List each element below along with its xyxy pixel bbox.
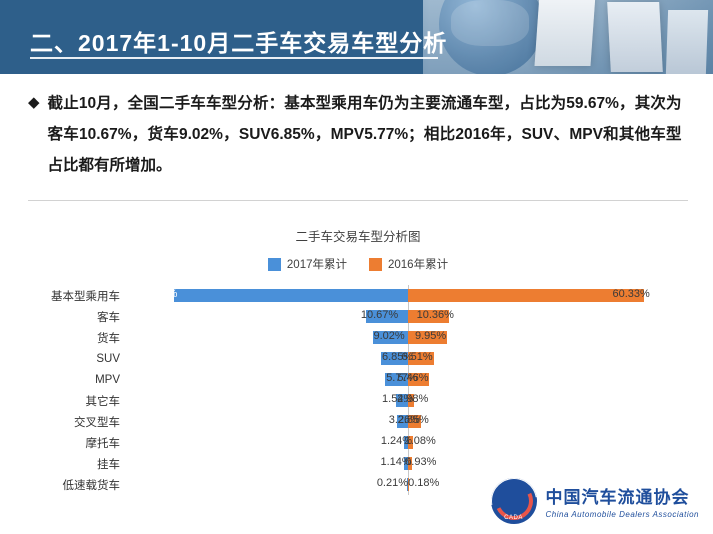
category-label: 摩托车	[28, 435, 128, 451]
bar-track: 5.77%5.46%	[128, 369, 688, 390]
category-label: MPV	[28, 374, 128, 386]
value-label-2016: 1.24%	[381, 435, 412, 447]
value-label-2016: 9.95%	[415, 330, 446, 342]
chart-row: SUV6.85%6.51%	[28, 348, 688, 369]
bar-track: 6.85%6.51%	[128, 348, 688, 369]
header-underline	[30, 57, 438, 59]
category-label: 基本型乘用车	[28, 288, 128, 304]
value-label-2017: 0.18%	[408, 477, 439, 489]
box-graphic-2	[607, 2, 663, 72]
bullet-icon: ◆	[28, 88, 40, 118]
bar-track: 59.67%60.33%	[128, 285, 688, 306]
bar-2017[interactable]	[174, 289, 408, 302]
logo-name-en: China Automobile Dealers Association	[546, 510, 699, 519]
value-label-2016: 60.33%	[612, 288, 649, 300]
chart-row: 货车9.02%9.95%	[28, 327, 688, 348]
value-label-2016: 6.51%	[402, 351, 433, 363]
value-label-2016: 10.36%	[417, 309, 454, 321]
legend-label-2017: 2017年累计	[287, 256, 347, 272]
legend-swatch-2017	[268, 258, 281, 271]
chart-title: 二手车交易车型分析图	[28, 226, 688, 245]
value-label-2016: 1.54%	[382, 393, 413, 405]
chart-row: 挂车0.93%1.14%	[28, 453, 688, 474]
cada-logo-icon: CADA	[491, 478, 537, 524]
bar-track: 2.85%3.26%	[128, 411, 688, 432]
category-label: 低速载货车	[28, 477, 128, 493]
chart-container: 二手车交易车型分析图 2017年累计 2016年累计 基本型乘用车59.67%6…	[28, 206, 688, 506]
legend-label-2016: 2016年累计	[388, 256, 448, 272]
category-label: 货车	[28, 330, 128, 346]
logo-name-cn: 中国汽车流通协会	[546, 483, 699, 508]
box-graphic-1	[534, 0, 595, 66]
legend-item-2017[interactable]: 2017年累计	[268, 256, 347, 272]
legend-item-2016[interactable]: 2016年累计	[369, 256, 448, 272]
legend-swatch-2016	[369, 258, 382, 271]
chart-row: 基本型乘用车59.67%60.33%	[28, 285, 688, 306]
category-label: 挂车	[28, 456, 128, 472]
category-label: 客车	[28, 309, 128, 325]
value-label-2016: 0.21%	[377, 477, 408, 489]
value-label-2016: 3.26%	[389, 414, 420, 426]
bar-track: 1.08%1.24%	[128, 432, 688, 453]
bar-track: 9.02%9.95%	[128, 327, 688, 348]
box-graphic-3	[666, 10, 708, 74]
chart-row: 交叉型车2.85%3.26%	[28, 411, 688, 432]
section-divider	[28, 200, 688, 201]
value-label-2017: 59.67%	[140, 288, 177, 300]
summary-text: 截止10月，全国二手车车型分析：基本型乘用车仍为主要流通车型，占比为59.67%…	[48, 88, 682, 181]
bar-track: 10.67%10.36%	[128, 306, 688, 327]
bar-track: 2.98%1.54%	[128, 390, 688, 411]
chart-row: MPV5.77%5.46%	[28, 369, 688, 390]
value-label-2016: 5.46%	[397, 372, 428, 384]
bar-track: 0.93%1.14%	[128, 453, 688, 474]
chart-legend: 2017年累计 2016年累计	[28, 256, 688, 272]
value-label-2017: 9.02%	[373, 330, 404, 342]
value-label-2016: 1.14%	[380, 456, 411, 468]
category-label: 交叉型车	[28, 414, 128, 430]
summary-block: ◆ 截止10月，全国二手车车型分析：基本型乘用车仍为主要流通车型，占比为59.6…	[28, 88, 688, 181]
organization-logo: CADA 中国汽车流通协会 China Automobile Dealers A…	[491, 478, 699, 524]
category-label: SUV	[28, 353, 128, 365]
chart-row: 客车10.67%10.36%	[28, 306, 688, 327]
page-title: 二、2017年1-10月二手车交易车型分析	[30, 24, 447, 58]
logo-mark-text: CADA	[491, 515, 537, 521]
page-header: 二、2017年1-10月二手车交易车型分析	[0, 0, 713, 74]
chart-plot-area: 基本型乘用车59.67%60.33%客车10.67%10.36%货车9.02%9…	[28, 285, 688, 495]
category-label: 其它车	[28, 393, 128, 409]
bar-2016[interactable]	[408, 289, 644, 302]
chart-row: 摩托车1.08%1.24%	[28, 432, 688, 453]
chart-row: 其它车2.98%1.54%	[28, 390, 688, 411]
value-label-2017: 10.67%	[361, 309, 398, 321]
